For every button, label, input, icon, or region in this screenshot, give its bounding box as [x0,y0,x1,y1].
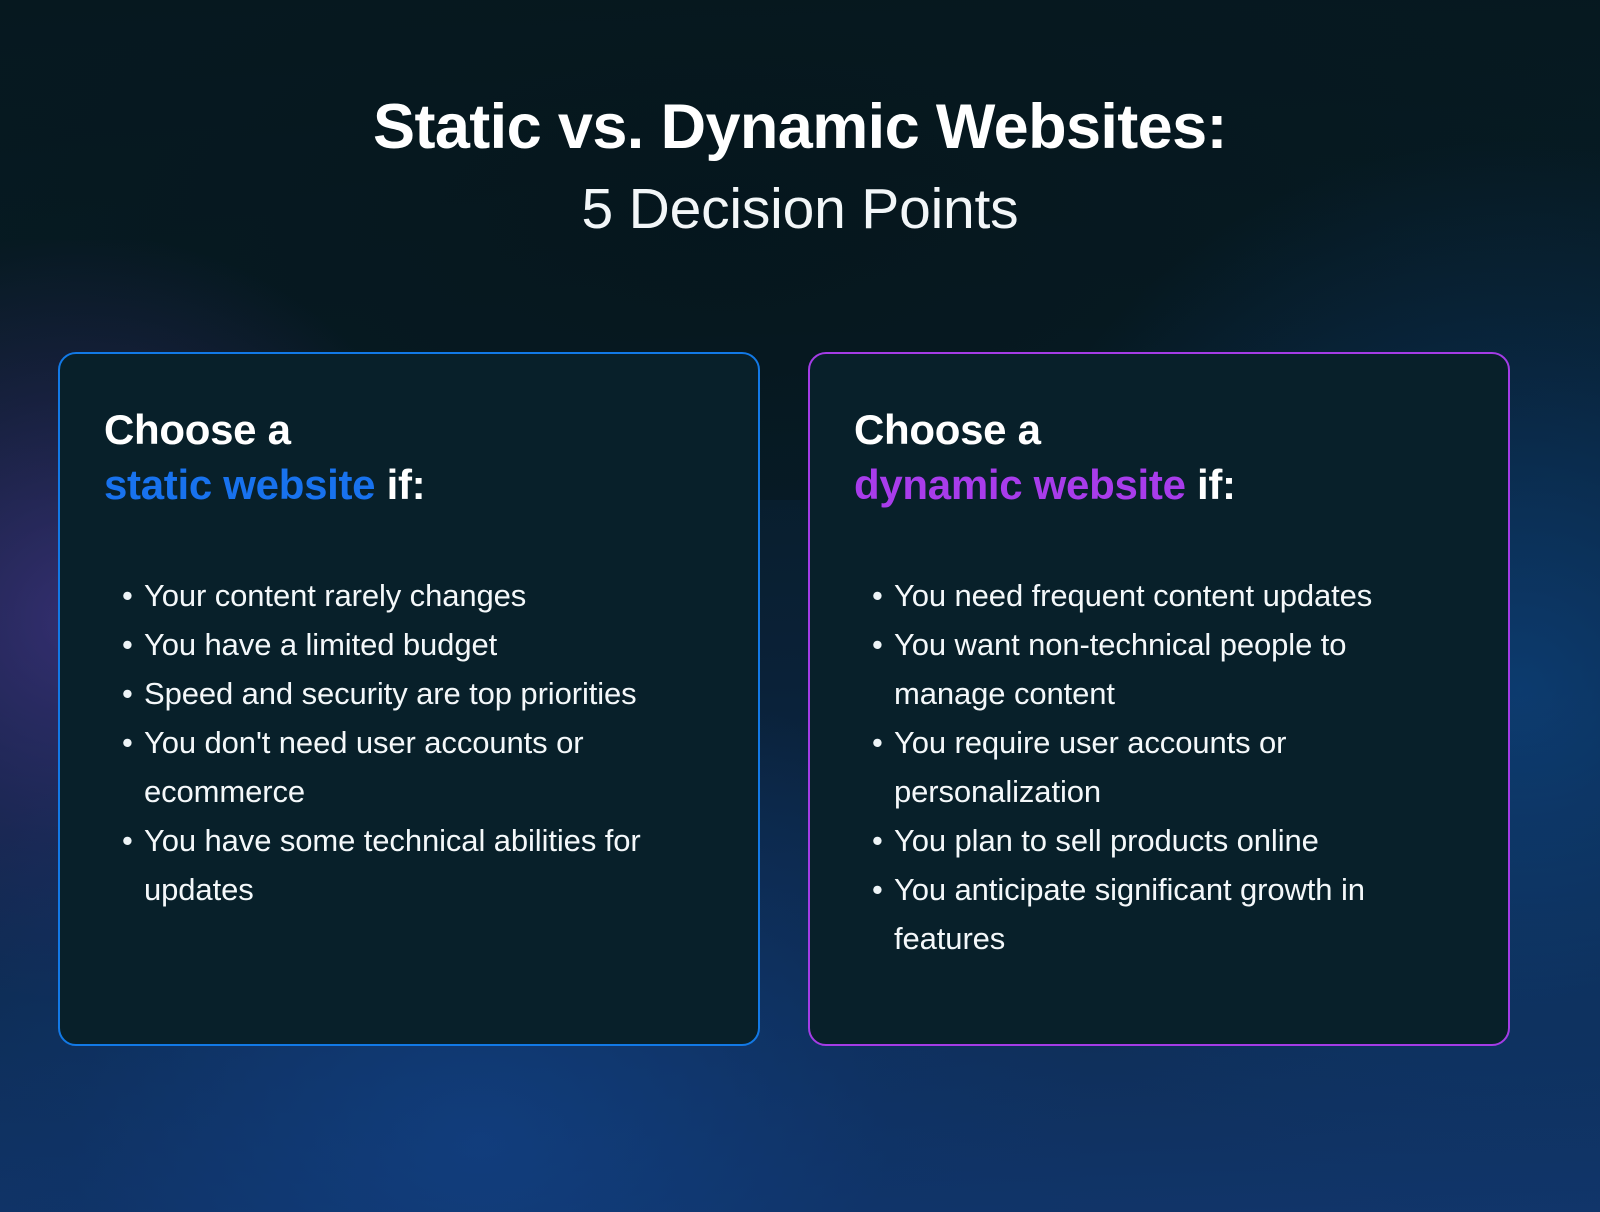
bullet-dot-icon: • [122,572,144,621]
card-static-heading-line1: Choose a [104,406,291,453]
list-item: • You want non-technical people to manag… [872,621,1464,719]
card-static-heading-suffix: if: [375,461,425,508]
bullet-dot-icon: • [872,866,894,915]
bullet-dot-icon: • [872,817,894,866]
list-item-label: You need frequent content updates [894,572,1464,621]
list-item: • You anticipate significant growth in f… [872,866,1464,964]
list-item: • Your content rarely changes [122,572,714,621]
card-dynamic-website: Choose a dynamic website if: • You need … [808,352,1510,1046]
list-item: • You don't need user accounts or ecomme… [122,719,714,817]
infographic-page: Static vs. Dynamic Websites: 5 Decision … [0,0,1600,1212]
list-item-label: You plan to sell products online [894,817,1464,866]
list-item: • You require user accounts or personali… [872,719,1464,817]
bullet-dot-icon: • [122,670,144,719]
card-static-heading: Choose a static website if: [104,402,714,513]
list-item: • You have some technical abilities for … [122,817,714,915]
comparison-cards-row: Choose a static website if: • Your conte… [58,352,1510,1046]
page-title: Static vs. Dynamic Websites: [0,96,1600,159]
bullet-dot-icon: • [872,572,894,621]
bullet-dot-icon: • [872,621,894,670]
card-dynamic-heading-accent: dynamic website [854,461,1186,508]
card-dynamic-heading-line1: Choose a [854,406,1041,453]
list-item: • You plan to sell products online [872,817,1464,866]
card-dynamic-bullet-list: • You need frequent content updates • Yo… [854,572,1464,964]
bullet-dot-icon: • [122,817,144,866]
list-item-label: You don't need user accounts or ecommerc… [144,719,714,817]
card-dynamic-heading-suffix: if: [1186,461,1236,508]
card-dynamic-heading: Choose a dynamic website if: [854,402,1464,513]
list-item-label: You anticipate significant growth in fea… [894,866,1464,964]
card-static-website: Choose a static website if: • Your conte… [58,352,760,1046]
page-subtitle: 5 Decision Points [0,181,1600,238]
bullet-dot-icon: • [122,621,144,670]
list-item: • You have a limited budget [122,621,714,670]
list-item: • Speed and security are top priorities [122,670,714,719]
bullet-dot-icon: • [872,719,894,768]
list-item-label: You have a limited budget [144,621,714,670]
page-header: Static vs. Dynamic Websites: 5 Decision … [0,96,1600,238]
list-item-label: You have some technical abilities for up… [144,817,714,915]
bullet-dot-icon: • [122,719,144,768]
list-item-label: You want non-technical people to manage … [894,621,1464,719]
card-static-heading-accent: static website [104,461,375,508]
list-item: • You need frequent content updates [872,572,1464,621]
list-item-label: Your content rarely changes [144,572,714,621]
list-item-label: Speed and security are top priorities [144,670,714,719]
list-item-label: You require user accounts or personaliza… [894,719,1464,817]
card-static-bullet-list: • Your content rarely changes • You have… [104,572,714,915]
